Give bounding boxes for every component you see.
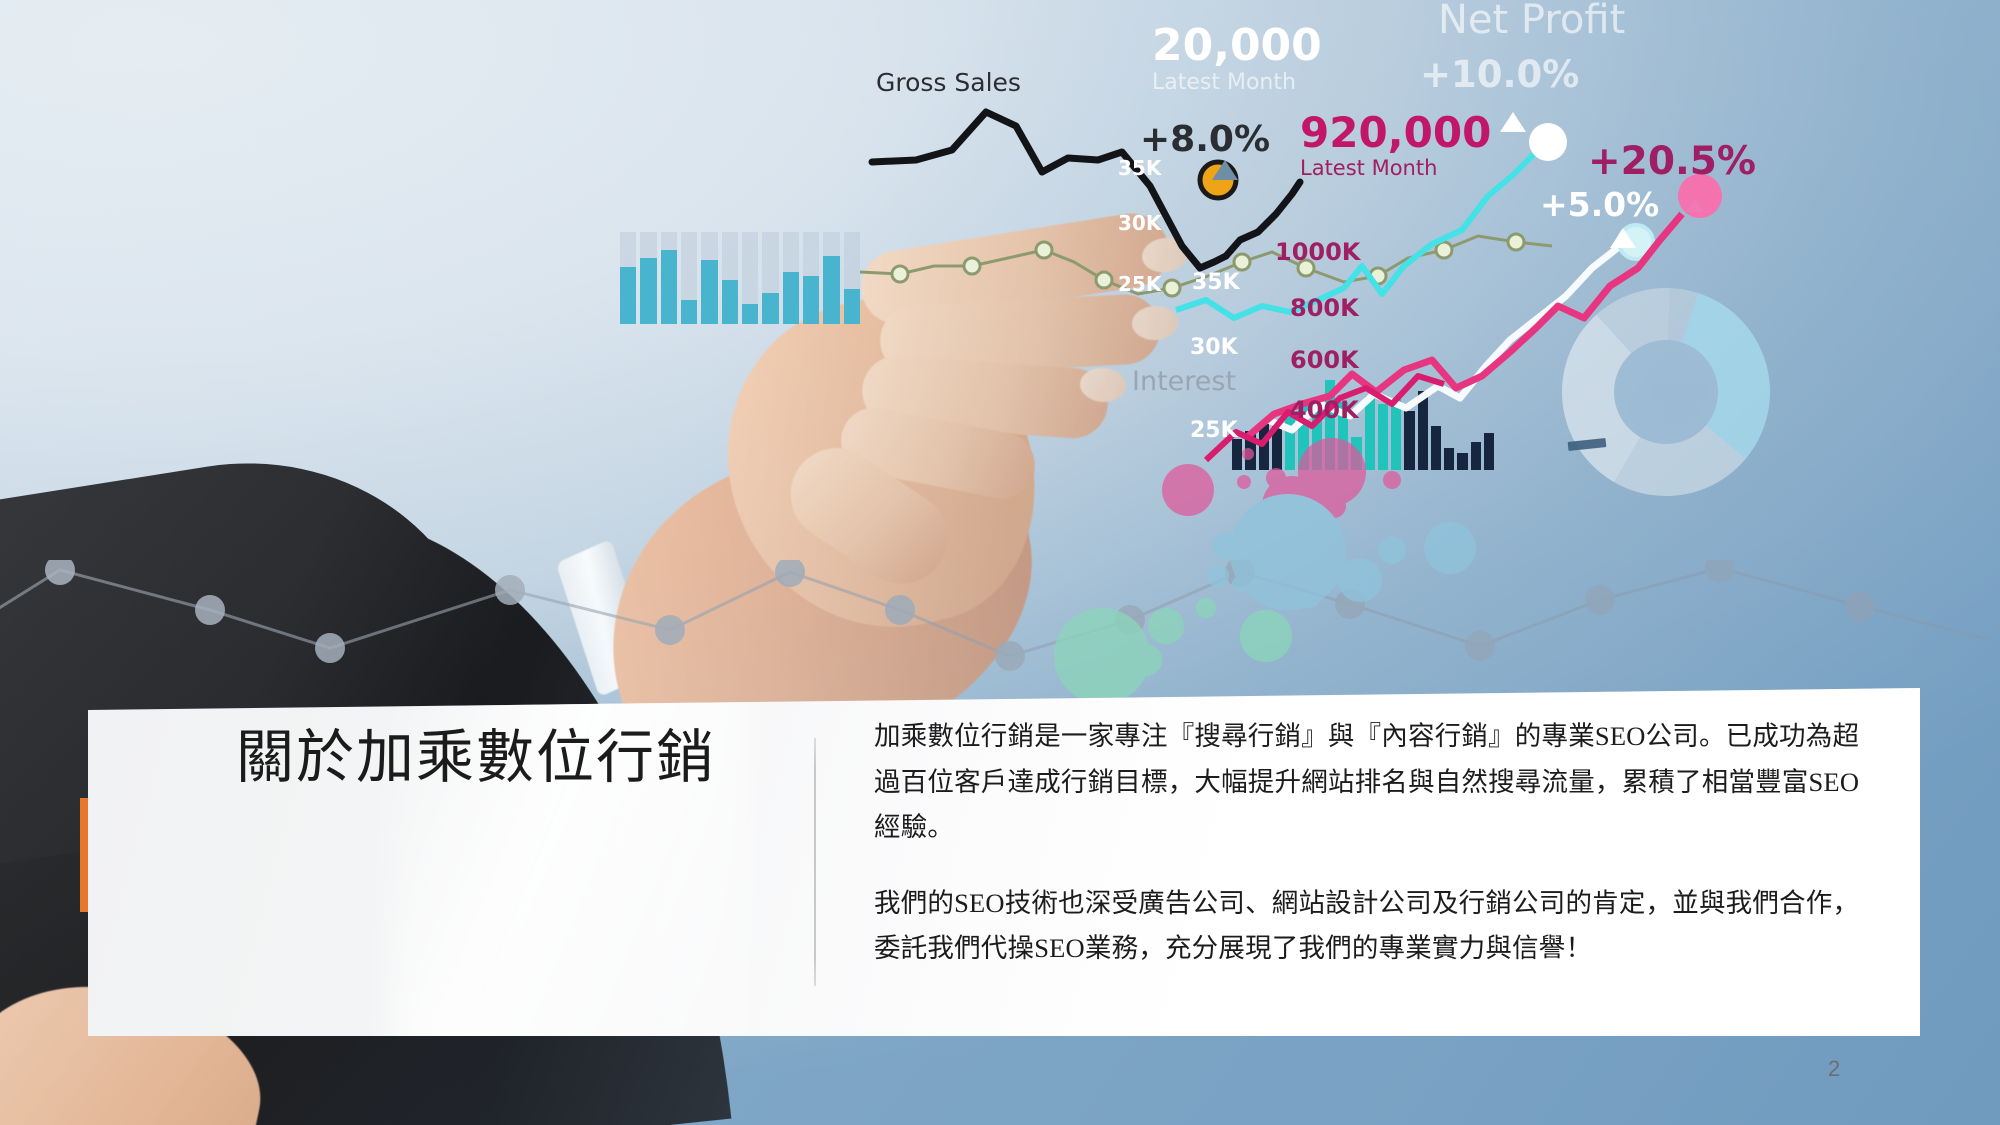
viz-label-25k: 25K [1190,420,1238,442]
viz-label-800k: 800K [1290,296,1359,320]
triangle-marker-4 [1686,198,1704,212]
viz-label-30k: 30K [1190,337,1238,359]
body-paragraph-2: 我們的SEO技術也深受廣告公司、網站設計公司及行銷公司的肯定，並與我們合作，委託… [874,881,1884,972]
triangle-marker-3 [1610,228,1636,248]
viz-label-8-0: +8.0% [1140,122,1270,158]
viz-label-5-0: +5.0% [1540,188,1659,221]
vertical-divider [814,738,816,986]
body-text-column: 加乘數位行銷是一家專注『搜尋行銷』與『內容行銷』的專業SEO公司。已成功為超過百… [874,714,1884,972]
viz-label-30k: 30K [1118,213,1161,233]
viz-label-gross-sales: Gross Sales [876,70,1021,95]
page-title: 關於加乘數位行銷 [236,726,836,790]
viz-label-600k: 600K [1290,348,1359,372]
body-paragraph-1: 加乘數位行銷是一家專注『搜尋行銷』與『內容行銷』的專業SEO公司。已成功為超過百… [874,714,1884,851]
viz-label-20-5: +20.5% [1588,142,1756,181]
viz-label-latest-month: Latest Month [1300,158,1437,179]
slide-canvas: Gross Sales20,000Latest Month+8.0%35K30K… [0,0,2000,1125]
page-number: 2 [1828,1056,1840,1082]
content-panel: 關於加乘數位行銷 加乘數位行銷是一家專注『搜尋行銷』與『內容行銷』的專業SEO公… [88,688,1920,1036]
bubble-chart-graphic [1040,430,1660,730]
viz-label-interest: Interest [1132,368,1236,395]
triangle-marker-1 [1212,160,1238,180]
viz-label-10-0: +10.0% [1420,56,1579,93]
viz-label-net-profit: Net Profit [1438,0,1625,40]
viz-label-920-000: 920,000 [1300,112,1491,154]
triangle-marker-2 [1500,112,1526,132]
viz-label-35k: 35K [1192,272,1240,294]
viz-label-400k: 400K [1290,398,1359,422]
viz-label-25k: 25K [1118,274,1161,294]
viz-label-20-000: 20,000 [1152,24,1322,68]
viz-label-1000k: 1000K [1275,240,1360,264]
viz-label-35k: 35K [1118,158,1161,178]
viz-label-latest-month: Latest Month [1152,72,1296,94]
